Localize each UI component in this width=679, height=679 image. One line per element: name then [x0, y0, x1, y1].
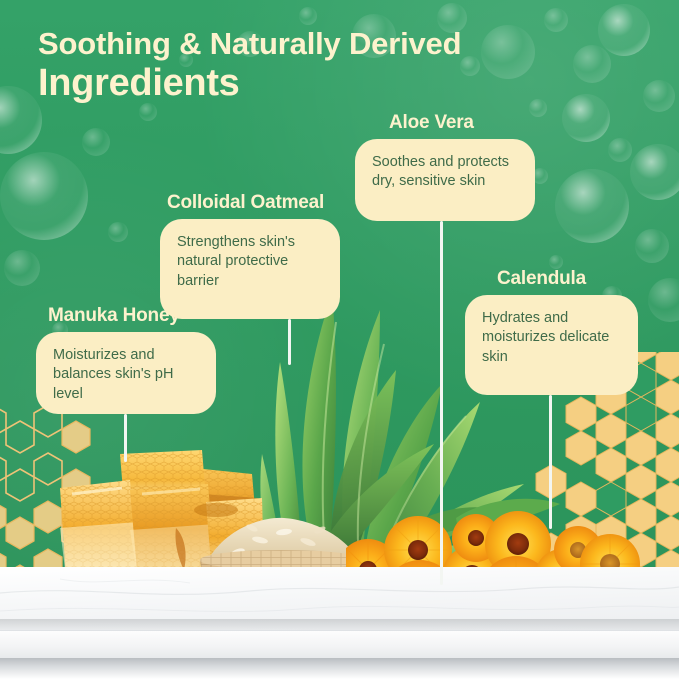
headline-line-2: Ingredients: [38, 64, 558, 103]
callout-body-colloidal-oatmeal: Strengthens skin's natural protective ba…: [160, 219, 340, 319]
page-title: Soothing & Naturally Derived Ingredients: [38, 28, 558, 102]
headline-line-1: Soothing & Naturally Derived: [38, 28, 558, 60]
callout-connector-calendula: [549, 395, 552, 529]
callout-title-colloidal-oatmeal: Colloidal Oatmeal: [167, 192, 324, 214]
callout-connector-colloidal-oatmeal: [288, 319, 291, 365]
marble-shelf: [0, 567, 679, 679]
callout-body-aloe-vera: Soothes and protects dry, sensitive skin: [355, 139, 535, 221]
callout-connector-aloe-vera: [440, 221, 443, 585]
callout-body-calendula: Hydrates and moisturizes delicate skin: [465, 295, 638, 395]
callout-title-aloe-vera: Aloe Vera: [389, 112, 474, 134]
ingredient-infographic: Soothing & Naturally Derived Ingredients…: [0, 0, 679, 679]
callout-title-calendula: Calendula: [497, 268, 586, 290]
callout-connector-manuka-honey: [124, 414, 127, 462]
callout-title-manuka-honey: Manuka Honey: [48, 305, 180, 327]
callout-body-manuka-honey: Moisturizes and balances skin's pH level: [36, 332, 216, 414]
